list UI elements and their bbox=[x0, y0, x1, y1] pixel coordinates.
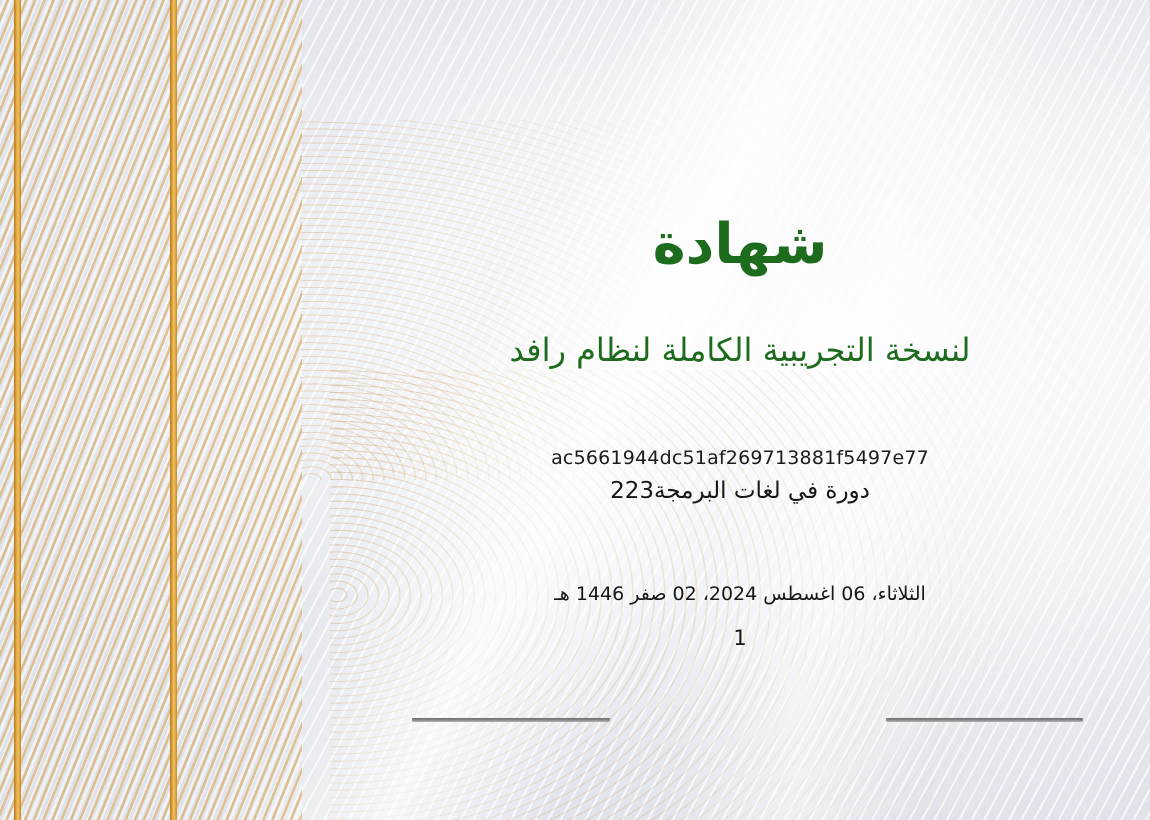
certificate-subtitle: لنسخة التجريبية الكاملة لنظام رافد bbox=[330, 330, 1150, 370]
certificate-content: شهادة لنسخة التجريبية الكاملة لنظام رافد… bbox=[330, 0, 1150, 820]
certificate-date: الثلاثاء، 06 اغسطس 2024، 02 صفر 1446 هـ bbox=[330, 583, 1150, 605]
guilloche-left-gold bbox=[0, 0, 302, 820]
band-gold-stripe-left bbox=[14, 0, 21, 820]
certificate-title: شهادة bbox=[330, 214, 1150, 276]
certificate-canvas: شهادة لنسخة التجريبية الكاملة لنظام رافد… bbox=[0, 0, 1150, 820]
certificate-course-name: دورة في لغات البرمجة223 bbox=[330, 478, 1150, 504]
certificate-hash-code: ac5661944dc51af269713881f5497e77 bbox=[330, 447, 1150, 469]
certificate-serial-number: 1 bbox=[330, 626, 1150, 650]
signature-line-right bbox=[886, 718, 1083, 722]
signature-line-left bbox=[412, 718, 610, 722]
band-gold-stripe-right bbox=[170, 0, 177, 820]
